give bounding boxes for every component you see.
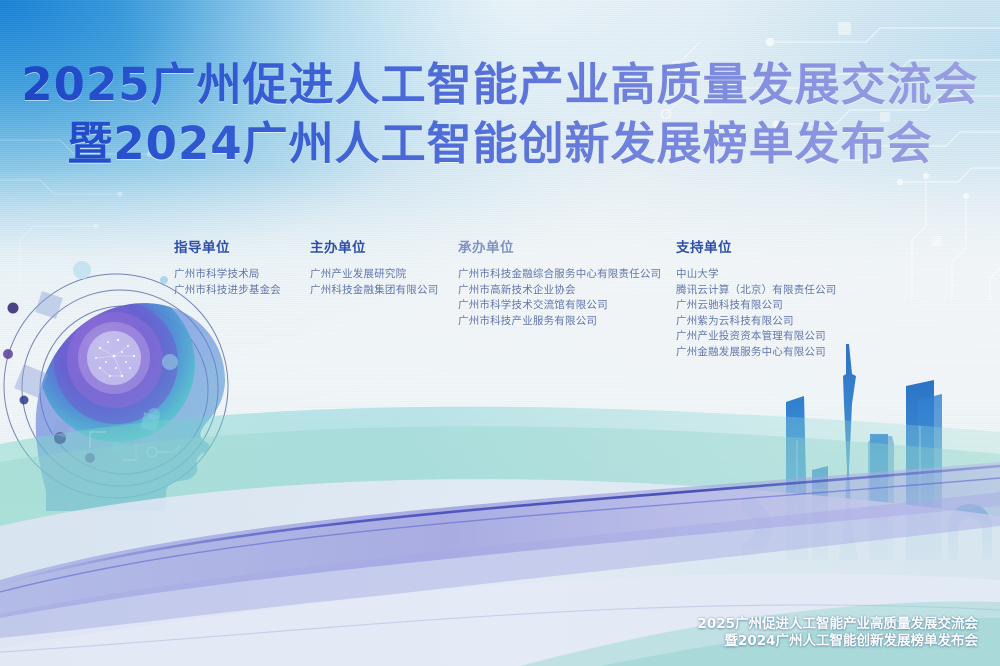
org-column-host: 主办单位 广州产业发展研究院 广州科技金融集团有限公司 bbox=[310, 236, 438, 298]
org-column-guidance: 指导单位 广州市科学技术局 广州市科技进步基金会 bbox=[174, 236, 281, 298]
org-item: 广州市科学技术局 bbox=[174, 267, 281, 283]
org-item: 广州市科技金融综合服务中心有限责任公司 bbox=[458, 267, 661, 283]
organization-columns: 指导单位 广州市科学技术局 广州市科技进步基金会 主办单位 广州产业发展研究院 … bbox=[0, 236, 1000, 386]
org-item: 广州紫为云科技有限公司 bbox=[676, 314, 837, 330]
org-item: 广州金融发展服务中心有限公司 bbox=[676, 345, 837, 361]
org-item: 广州产业投资资本管理有限公司 bbox=[676, 329, 837, 345]
org-heading: 主办单位 bbox=[310, 236, 438, 256]
footer-line-1: 2025广州促进人工智能产业高质量发展交流会 bbox=[697, 616, 978, 633]
org-item: 广州市科技进步基金会 bbox=[174, 283, 281, 299]
org-item: 中山大学 bbox=[676, 267, 837, 283]
org-heading: 支持单位 bbox=[676, 236, 837, 256]
org-heading: 指导单位 bbox=[174, 236, 281, 256]
title-line-1: 2025广州促进人工智能产业高质量发展交流会 bbox=[0, 56, 1000, 115]
org-heading: 承办单位 bbox=[458, 236, 661, 256]
org-item: 广州市高新技术企业协会 bbox=[458, 283, 661, 299]
org-column-support: 支持单位 中山大学 腾讯云计算（北京）有限责任公司 广州云驰科技有限公司 广州紫… bbox=[676, 236, 837, 360]
org-item: 广州云驰科技有限公司 bbox=[676, 298, 837, 314]
footer-line-2: 暨2024广州人工智能创新发展榜单发布会 bbox=[697, 633, 978, 650]
page-title: 2025广州促进人工智能产业高质量发展交流会 暨2024广州人工智能创新发展榜单… bbox=[0, 56, 1000, 173]
footer-title-watermark: 2025广州促进人工智能产业高质量发展交流会 暨2024广州人工智能创新发展榜单… bbox=[697, 616, 978, 650]
org-item: 广州市科学技术交流馆有限公司 bbox=[458, 298, 661, 314]
org-item: 腾讯云计算（北京）有限责任公司 bbox=[676, 283, 837, 299]
poster-canvas: 2025广州促进人工智能产业高质量发展交流会 暨2024广州人工智能创新发展榜单… bbox=[0, 0, 1000, 666]
org-item: 广州产业发展研究院 bbox=[310, 267, 438, 283]
org-item: 广州科技金融集团有限公司 bbox=[310, 283, 438, 299]
org-column-organizer: 承办单位 广州市科技金融综合服务中心有限责任公司 广州市高新技术企业协会 广州市… bbox=[458, 236, 661, 329]
org-item: 广州市科技产业服务有限公司 bbox=[458, 314, 661, 330]
title-line-2: 暨2024广州人工智能创新发展榜单发布会 bbox=[0, 115, 1000, 174]
